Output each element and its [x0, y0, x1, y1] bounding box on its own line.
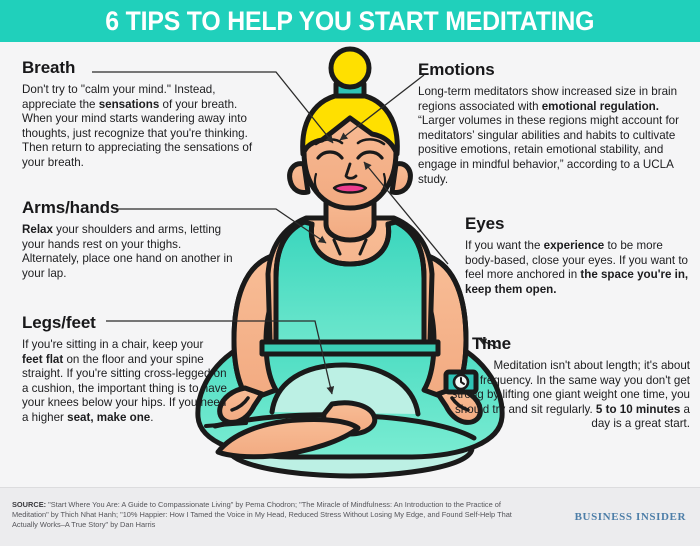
source-label: SOURCE:: [12, 500, 46, 509]
callout-arms-hands: Arms/hands Relax your shoulders and arms…: [22, 198, 237, 281]
infographic-root: 6 TIPS TO HELP YOU START MEDITATING: [0, 0, 700, 545]
source-credit: SOURCE: "Start Where You Are: A Guide to…: [12, 500, 512, 531]
callout-title-eyes: Eyes: [465, 214, 690, 234]
callout-eyes: Eyes If you want the experience to be mo…: [465, 214, 690, 297]
header-banner: 6 TIPS TO HELP YOU START MEDITATING: [0, 0, 700, 42]
callout-body-eyes: If you want the experience to be more bo…: [465, 239, 690, 297]
callout-title-breath: Breath: [22, 58, 270, 78]
callout-body-legs-feet: If you're sitting in a chair, keep your …: [22, 338, 227, 426]
callout-title-time: Time: [450, 334, 690, 354]
footer-bar: SOURCE: "Start Where You Are: A Guide to…: [0, 487, 700, 546]
callout-title-emotions: Emotions: [418, 60, 686, 80]
callout-body-breath: Don't try to "calm your mind." Instead, …: [22, 83, 270, 171]
hair-bun: [331, 49, 369, 87]
waistband: [262, 342, 438, 354]
callout-body-arms-hands: Relax your shoulders and arms, letting y…: [22, 223, 237, 281]
page-title: 6 TIPS TO HELP YOU START MEDITATING: [105, 6, 594, 37]
callout-body-emotions: Long-term meditators show increased size…: [418, 85, 686, 187]
callout-breath: Breath Don't try to "calm your mind." In…: [22, 58, 270, 171]
callout-legs-feet: Legs/feet If you're sitting in a chair, …: [22, 313, 227, 426]
callout-emotions: Emotions Long-term meditators show incre…: [418, 60, 686, 187]
mouth-lips: [334, 184, 366, 192]
callout-title-legs-feet: Legs/feet: [22, 313, 227, 333]
callout-time: Time Meditation isn't about length; it's…: [450, 334, 690, 432]
callout-title-arms-hands: Arms/hands: [22, 198, 237, 218]
business-insider-logo: BUSINESS INSIDER: [575, 511, 686, 523]
callout-body-time: Meditation isn't about length; it's abou…: [450, 359, 690, 432]
source-text: "Start Where You Are: A Guide to Compass…: [12, 500, 512, 529]
